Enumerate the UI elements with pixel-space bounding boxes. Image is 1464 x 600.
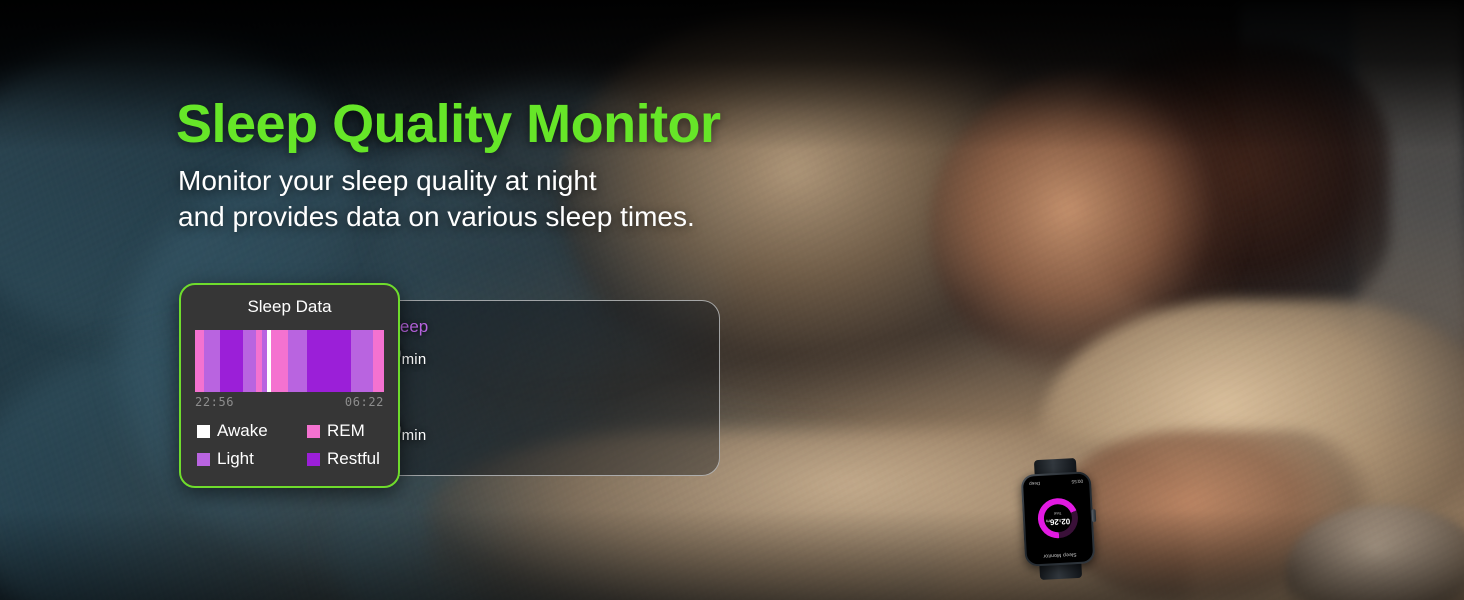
legend-item-rem: REM (307, 421, 384, 441)
hypnogram-segment-rem (195, 330, 204, 392)
watch-crown-button[interactable] (1092, 509, 1097, 522)
legend-swatch-awake (197, 425, 210, 438)
legend-swatch-light (197, 453, 210, 466)
bottom-vignette (0, 510, 1464, 600)
legend-item-awake: Awake (197, 421, 307, 441)
hypnogram-segment-light (288, 330, 308, 392)
watch-sub-label: Total (1054, 511, 1062, 515)
watch-body: Sleep Monitor 02h26m Total 00:55 Deep (1021, 471, 1096, 567)
hypnogram-segment-restful (220, 330, 244, 392)
legend-item-light: Light (197, 449, 307, 469)
watch-bottom-labels: 00:55 Deep (1029, 479, 1083, 487)
hypnogram-segment-light (351, 330, 373, 392)
legend-swatch-restful (307, 453, 320, 466)
watch-left-label: 00:55 (1071, 479, 1083, 485)
watch-right-label: Deep (1029, 481, 1040, 487)
legend-label: Light (217, 449, 254, 469)
hypnogram-time-axis: 22:56 06:22 (195, 395, 384, 409)
hypnogram-chart (195, 330, 384, 392)
end-time-label: 06:22 (345, 395, 384, 409)
legend-item-restful: Restful (307, 449, 384, 469)
watch-ring-inner: 02h26m Total (1043, 503, 1072, 532)
legend-swatch-rem (307, 425, 320, 438)
page-title: Sleep Quality Monitor (176, 96, 721, 153)
hypnogram-segment-rem (373, 330, 384, 392)
watch-progress-ring: 02h26m Total (1037, 497, 1079, 539)
hypnogram-segment-rem (271, 330, 288, 392)
legend-label: Awake (217, 421, 268, 441)
watch-duration: 02h26m (1046, 516, 1070, 525)
sleep-data-card: Sleep Data 22:56 06:22 Awake REM Light R… (179, 283, 400, 488)
legend-label: Restful (327, 449, 380, 469)
chart-legend: Awake REM Light Restful (197, 421, 384, 469)
promo-banner: Sleep Quality Monitor Monitor your sleep… (0, 0, 1464, 600)
hypnogram-segment-light (243, 330, 256, 392)
card-title: Sleep Data (181, 297, 398, 317)
watch-status-text: Sleep Monitor (1027, 550, 1093, 559)
hypnogram-segment-light (204, 330, 220, 392)
smartwatch: Sleep Monitor 02h26m Total 00:55 Deep (1021, 471, 1096, 567)
watch-screen[interactable]: Sleep Monitor 02h26m Total 00:55 Deep (1023, 473, 1094, 564)
start-time-label: 22:56 (195, 395, 234, 409)
legend-label: REM (327, 421, 365, 441)
hypnogram-segment-restful (307, 330, 350, 392)
page-subtitle: Monitor your sleep quality at night and … (178, 163, 695, 235)
